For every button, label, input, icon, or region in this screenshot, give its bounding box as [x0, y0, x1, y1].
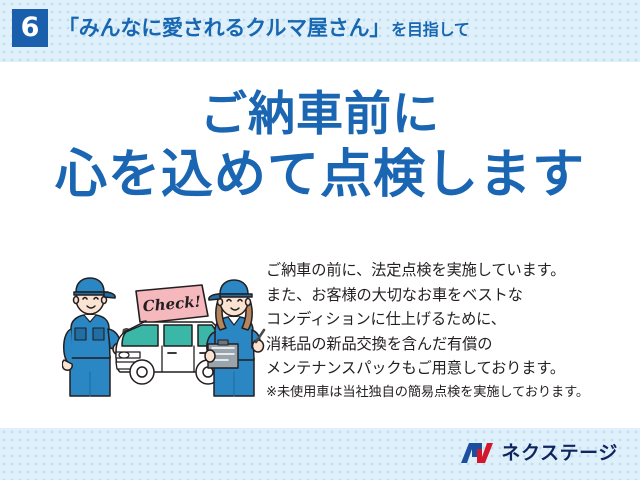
headline: ご納車前に 心を込めて点検します	[0, 86, 640, 206]
female-mechanic	[205, 280, 264, 396]
headline-line-1: ご納車前に	[0, 86, 640, 144]
header-title-main: 「みんなに愛されるクルマ屋さん」	[58, 12, 390, 42]
nextage-n-mark-icon	[460, 441, 494, 465]
brand-logo: ネクステージ	[460, 440, 618, 466]
body-footnote: ※未使用車は当社独自の簡易点検を実施しております。	[266, 383, 622, 403]
body-line: 消耗品の新品交換を含んだ有償の	[266, 332, 622, 357]
brand-name: ネクステージ	[501, 441, 618, 465]
step-number-badge: 6	[12, 9, 48, 47]
headline-line-2: 心を込めて点検します	[0, 144, 640, 206]
header-title-suffix: を目指して	[390, 16, 470, 40]
advertisement-banner: 6 「みんなに愛されるクルマ屋さん」 を目指して ご納車前に 心を込めて点検しま…	[0, 0, 640, 480]
body-copy: ご納車の前に、法定点検を実施しています。 また、お客様の大切なお車をベストな コ…	[266, 258, 622, 403]
body-line: メンテナンスパックもご用意しております。	[266, 356, 622, 381]
body-line: コンディションに仕上げるために、	[266, 307, 622, 332]
body-line: ご納車の前に、法定点検を実施しています。	[266, 258, 622, 283]
body-line: また、お客様の大切なお車をベストな	[266, 283, 622, 308]
mechanics-illustration-svg: Check!	[62, 272, 266, 398]
mechanics-illustration: Check!	[62, 272, 266, 398]
header-title: 「みんなに愛されるクルマ屋さん」 を目指して	[58, 12, 470, 46]
